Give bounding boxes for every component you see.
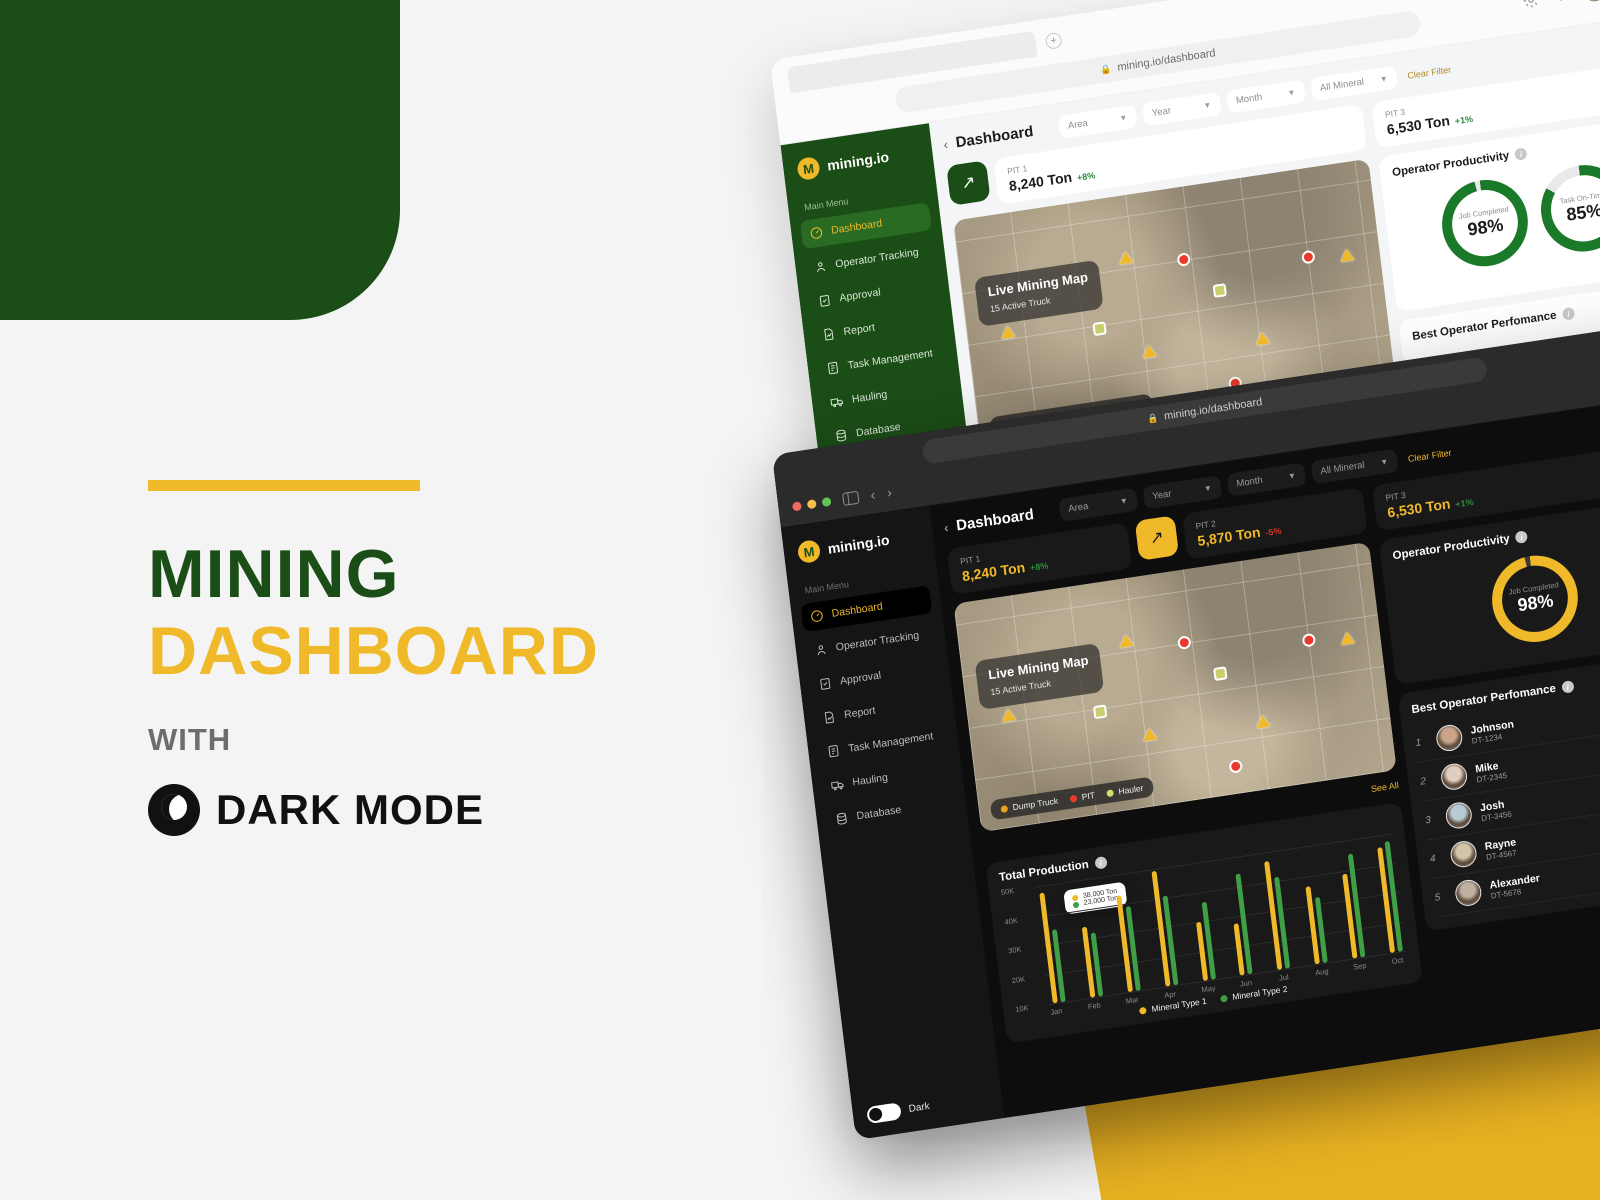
- filter-value: All Mineral: [1320, 460, 1365, 477]
- new-tab-icon[interactable]: +: [1045, 32, 1063, 50]
- map-marker-hauler[interactable]: [1000, 325, 1015, 339]
- donut-hole: Task On-Time 85%: [1547, 171, 1600, 246]
- bar-group[interactable]: [1226, 856, 1253, 975]
- nav-forward-icon[interactable]: ›: [886, 484, 893, 501]
- avatar: [1454, 878, 1483, 908]
- x-axis-label: Apr: [1163, 989, 1177, 1000]
- dark-window-controls: ‹ ›: [791, 484, 892, 515]
- map-title-badge: Live Mining Map 15 Active Truck: [974, 260, 1104, 327]
- gear-icon[interactable]: [1521, 0, 1541, 10]
- map-subtitle: 15 Active Truck: [990, 678, 1052, 697]
- filter-value: Month: [1236, 475, 1263, 490]
- map-marker-hauler[interactable]: [1001, 708, 1016, 722]
- lock-icon: 🔒: [1146, 412, 1158, 425]
- x-axis-label: Oct: [1391, 955, 1405, 966]
- clear-filter-button[interactable]: Clear Filter: [1407, 64, 1452, 80]
- chevron-down-icon: ▼: [1287, 88, 1296, 98]
- hero-dark-mode-text: DARK MODE: [216, 786, 484, 834]
- database-icon: [834, 811, 850, 827]
- filter-area[interactable]: Area▼: [1058, 105, 1138, 139]
- dark-dashboard-grid: PIT 1 8,240 Ton+8% ↗ PIT 2 5,870 Ton-5%: [947, 442, 1600, 1044]
- bar-group[interactable]: [1301, 845, 1328, 964]
- sidebar-label: Operator Tracking: [835, 629, 920, 653]
- bar-group[interactable]: [1263, 851, 1290, 970]
- avatar[interactable]: [1580, 0, 1600, 5]
- bar-group[interactable]: [1338, 840, 1365, 959]
- operator-rank: 5: [1434, 891, 1447, 904]
- filter-value: Year: [1151, 105, 1171, 119]
- clipboard-check-icon: [817, 676, 833, 692]
- map-expand-button[interactable]: ↗: [946, 160, 990, 206]
- dark-theme-toggle[interactable]: Dark: [866, 1098, 931, 1124]
- operator-rank: 3: [1425, 813, 1438, 826]
- avatar: [1435, 723, 1464, 753]
- info-icon[interactable]: i: [1562, 307, 1575, 321]
- operator-info: JoshDT-3456: [1479, 797, 1512, 822]
- sidebar-label: Approval: [839, 286, 881, 304]
- page-title: Dashboard: [955, 123, 1035, 151]
- traffic-lights[interactable]: [792, 496, 832, 511]
- brand-logo-icon: M: [797, 539, 821, 564]
- theme-toggle-label: Dark: [908, 1101, 930, 1115]
- chevron-down-icon: ▼: [1380, 457, 1389, 467]
- filter-year[interactable]: Year▼: [1142, 92, 1222, 126]
- y-axis-tick: 40K: [1004, 915, 1018, 926]
- y-axis-tick: 30K: [1008, 945, 1022, 956]
- avatar: [1440, 762, 1469, 792]
- x-axis-label: Jan: [1049, 1006, 1063, 1017]
- filter-value: All Mineral: [1319, 76, 1364, 93]
- brand: M mining.io: [793, 524, 924, 565]
- card-title: Best Operator Perfomance: [1412, 310, 1558, 343]
- back-chevron-icon[interactable]: ‹: [943, 520, 949, 536]
- operator-rank: 4: [1429, 852, 1442, 865]
- map-marker-hauler[interactable]: [1255, 331, 1270, 345]
- see-all-link[interactable]: See All: [1370, 780, 1399, 794]
- back-chevron-icon[interactable]: ‹: [943, 137, 949, 153]
- bell-icon[interactable]: [1551, 0, 1571, 3]
- toggle-switch[interactable]: [866, 1102, 902, 1124]
- operator-info: JohnsonDT-1234: [1470, 718, 1516, 745]
- database-icon: [834, 428, 850, 444]
- brand-name: mining.io: [827, 532, 890, 557]
- brand-logo-icon: M: [796, 156, 820, 181]
- truck-icon: [829, 394, 845, 410]
- donut-value: 85%: [1565, 200, 1600, 226]
- chevron-down-icon: ▼: [1203, 483, 1212, 493]
- donut-job-completed: Job Completed 98%: [1487, 550, 1583, 648]
- best-operator-card: Best Operator Perfomance i 1JohnsonDT-12…: [1398, 650, 1600, 931]
- filter-year[interactable]: Year▼: [1142, 475, 1222, 509]
- map-title: Live Mining Map: [987, 269, 1089, 299]
- brand-name: mining.io: [826, 149, 889, 174]
- hero-with-label: WITH: [148, 722, 708, 758]
- donut-hole: Job Completed 98%: [1448, 185, 1521, 260]
- maximize-icon[interactable]: [822, 496, 832, 506]
- operator-info: RayneDT-4567: [1484, 836, 1518, 862]
- donut-value: 98%: [1466, 214, 1504, 240]
- operator-info: AlexanderDT-5678: [1489, 872, 1542, 900]
- bar-group[interactable]: [1188, 862, 1215, 981]
- filter-value: Year: [1152, 488, 1172, 502]
- sidebar-label: Hauling: [852, 771, 889, 788]
- map-marker-hauler[interactable]: [1142, 727, 1157, 741]
- bar-group[interactable]: [1038, 884, 1065, 1003]
- sidebar-label: Report: [844, 705, 877, 722]
- speedometer-icon: [809, 225, 825, 241]
- donut-task-on-time: Task On-Time 85%: [1536, 159, 1600, 257]
- light-browser-actions: Ibnu A mibnuarr: [1521, 0, 1600, 14]
- y-axis-tick: 20K: [1011, 974, 1025, 985]
- task-list-icon: [825, 360, 841, 376]
- sidebar-label: Hauling: [851, 388, 888, 405]
- legend-dump-truck: Dump Truck: [1000, 796, 1058, 814]
- x-axis-label: May: [1201, 983, 1215, 994]
- info-icon[interactable]: i: [1514, 147, 1527, 161]
- chevron-down-icon: ▼: [1203, 100, 1212, 110]
- clear-filter-button[interactable]: Clear Filter: [1407, 447, 1452, 463]
- map-marker-hauler[interactable]: [1340, 631, 1355, 645]
- bar-group[interactable]: [1376, 834, 1403, 953]
- moon-icon: [148, 784, 200, 836]
- person-pin-icon: [813, 642, 829, 658]
- sidebar-label: Approval: [839, 669, 881, 687]
- donut-job-completed: Job Completed 98%: [1437, 174, 1533, 272]
- chevron-down-icon: ▼: [1119, 496, 1128, 506]
- page-title: Dashboard: [955, 506, 1035, 534]
- map-marker-hauler[interactable]: [1119, 634, 1134, 648]
- pit-delta: +1%: [1455, 497, 1474, 510]
- donut-hole: Job Completed 98%: [1498, 561, 1571, 636]
- map-marker-hauler[interactable]: [1339, 248, 1354, 262]
- x-axis-label: Jul: [1277, 972, 1291, 983]
- map-title-badge: Live Mining Map 15 Active Truck: [975, 643, 1105, 710]
- x-axis-label: Feb: [1087, 1000, 1101, 1011]
- hero-block: MINING DASHBOARD WITH DARK MODE: [148, 480, 708, 836]
- nav-back-icon[interactable]: ‹: [870, 486, 877, 503]
- map-marker-pit[interactable]: [1177, 635, 1191, 650]
- task-list-icon: [826, 743, 842, 759]
- hero-dark-mode-row: DARK MODE: [148, 784, 708, 836]
- map-marker-pit[interactable]: [1229, 759, 1243, 774]
- map-marker-dumptruck[interactable]: [1093, 704, 1107, 719]
- map-marker-dumptruck[interactable]: [1213, 666, 1227, 681]
- map-title: Live Mining Map: [987, 653, 1089, 683]
- avatar: [1444, 801, 1473, 831]
- map-marker-hauler[interactable]: [1255, 714, 1270, 728]
- lock-icon: 🔒: [1100, 63, 1112, 76]
- hero-rule: [148, 480, 420, 491]
- sidebar-label: Database: [856, 804, 902, 823]
- bar-group[interactable]: [1076, 879, 1103, 998]
- dark-url-text: mining.io/dashboard: [1163, 396, 1262, 423]
- truck-icon: [830, 777, 846, 793]
- map-marker-dumptruck[interactable]: [1213, 283, 1227, 298]
- operator-productivity-card: Operator Productivity i Job Completed 98…: [1378, 113, 1600, 312]
- document-chart-icon: [822, 709, 838, 725]
- x-axis-label: Sep: [1353, 961, 1367, 972]
- moon-icon: [868, 1107, 882, 1122]
- y-axis-tick: 50K: [1000, 886, 1014, 897]
- filter-area[interactable]: Area▼: [1058, 488, 1138, 522]
- light-url-text: mining.io/dashboard: [1117, 47, 1216, 74]
- pit-delta: +8%: [1030, 560, 1049, 573]
- chevron-down-icon: ▼: [1379, 74, 1388, 84]
- filter-month[interactable]: Month▼: [1226, 79, 1306, 113]
- legend-pit: PIT: [1069, 790, 1095, 804]
- filter-mineral[interactable]: All Mineral▼: [1310, 66, 1398, 102]
- x-axis-label: Mar: [1125, 995, 1139, 1006]
- bar-group[interactable]: [1113, 873, 1140, 992]
- map-marker-hauler[interactable]: [1142, 344, 1157, 358]
- info-icon[interactable]: i: [1561, 680, 1574, 694]
- poster-canvas: MINING DASHBOARD WITH DARK MODE + 🔒 mini…: [0, 0, 1600, 1200]
- background-green-shape: [0, 0, 400, 320]
- map-legend: Dump Truck PIT Hauler: [990, 776, 1155, 820]
- person-pin-icon: [813, 259, 829, 275]
- pit-delta: +8%: [1076, 170, 1095, 183]
- map-marker-hauler[interactable]: [1118, 251, 1133, 265]
- clipboard-check-icon: [817, 293, 833, 309]
- map-subtitle: 15 Active Truck: [989, 295, 1051, 314]
- map-marker-pit[interactable]: [1301, 250, 1315, 265]
- brand: M mining.io: [792, 141, 923, 182]
- operator-list: 1JohnsonDT-12342MikeDT-23453JoshDT-34564…: [1413, 684, 1600, 918]
- chevron-down-icon: ▼: [1288, 471, 1297, 481]
- dark-left-column: PIT 1 8,240 Ton+8% ↗ PIT 2 5,870 Ton-5%: [947, 487, 1423, 1044]
- info-icon[interactable]: i: [1515, 530, 1528, 544]
- operator-rank: 1: [1415, 736, 1428, 749]
- sidebar-label: Operator Tracking: [835, 246, 920, 270]
- notification-bell-wrapper[interactable]: [1551, 0, 1572, 8]
- pit-delta: -5%: [1265, 526, 1282, 538]
- map-marker-dumptruck[interactable]: [1092, 321, 1106, 336]
- dark-dashboard-window: 🔒 mining.io/dashboard ‹ › M: [772, 322, 1600, 1140]
- avatar: [1449, 839, 1478, 869]
- dark-main-content: ‹ Dashboard Area▼ Year▼ Month▼ All Miner…: [929, 395, 1600, 1117]
- sidebar-label: Report: [843, 321, 876, 338]
- sidebar-label: Task Management: [848, 730, 934, 755]
- operator-info: MikeDT-2345: [1475, 759, 1508, 784]
- x-axis-label: Aug: [1315, 966, 1329, 977]
- legend-hauler: Hauler: [1106, 783, 1144, 798]
- chevron-down-icon: ▼: [1119, 113, 1128, 123]
- donut-value: 98%: [1516, 590, 1554, 616]
- operator-rank: 2: [1420, 775, 1433, 788]
- filter-value: Month: [1235, 92, 1262, 107]
- sidebar-label: Task Management: [847, 347, 933, 372]
- bar-group[interactable]: [1151, 868, 1178, 987]
- speedometer-icon: [809, 608, 825, 624]
- sidebar-toggle-icon[interactable]: [842, 490, 859, 505]
- hero-title-line2: DASHBOARD: [148, 616, 708, 687]
- filter-mineral[interactable]: All Mineral▼: [1310, 449, 1398, 485]
- map-marker-pit[interactable]: [1302, 633, 1316, 648]
- hero-title-line1: MINING: [148, 539, 708, 610]
- pit-delta: +1%: [1454, 114, 1473, 127]
- filter-value: Area: [1068, 501, 1089, 515]
- sidebar-label: Dashboard: [831, 217, 883, 237]
- map-marker-pit[interactable]: [1177, 252, 1191, 267]
- document-chart-icon: [821, 326, 837, 342]
- info-icon[interactable]: i: [1094, 856, 1107, 870]
- minimize-icon[interactable]: [807, 499, 817, 509]
- close-icon[interactable]: [792, 501, 802, 511]
- sidebar-label: Dashboard: [831, 600, 883, 620]
- map-expand-button[interactable]: ↗: [1135, 515, 1179, 561]
- filter-value: Area: [1067, 118, 1088, 132]
- x-axis-label: Jun: [1239, 978, 1253, 989]
- filter-month[interactable]: Month▼: [1226, 463, 1306, 497]
